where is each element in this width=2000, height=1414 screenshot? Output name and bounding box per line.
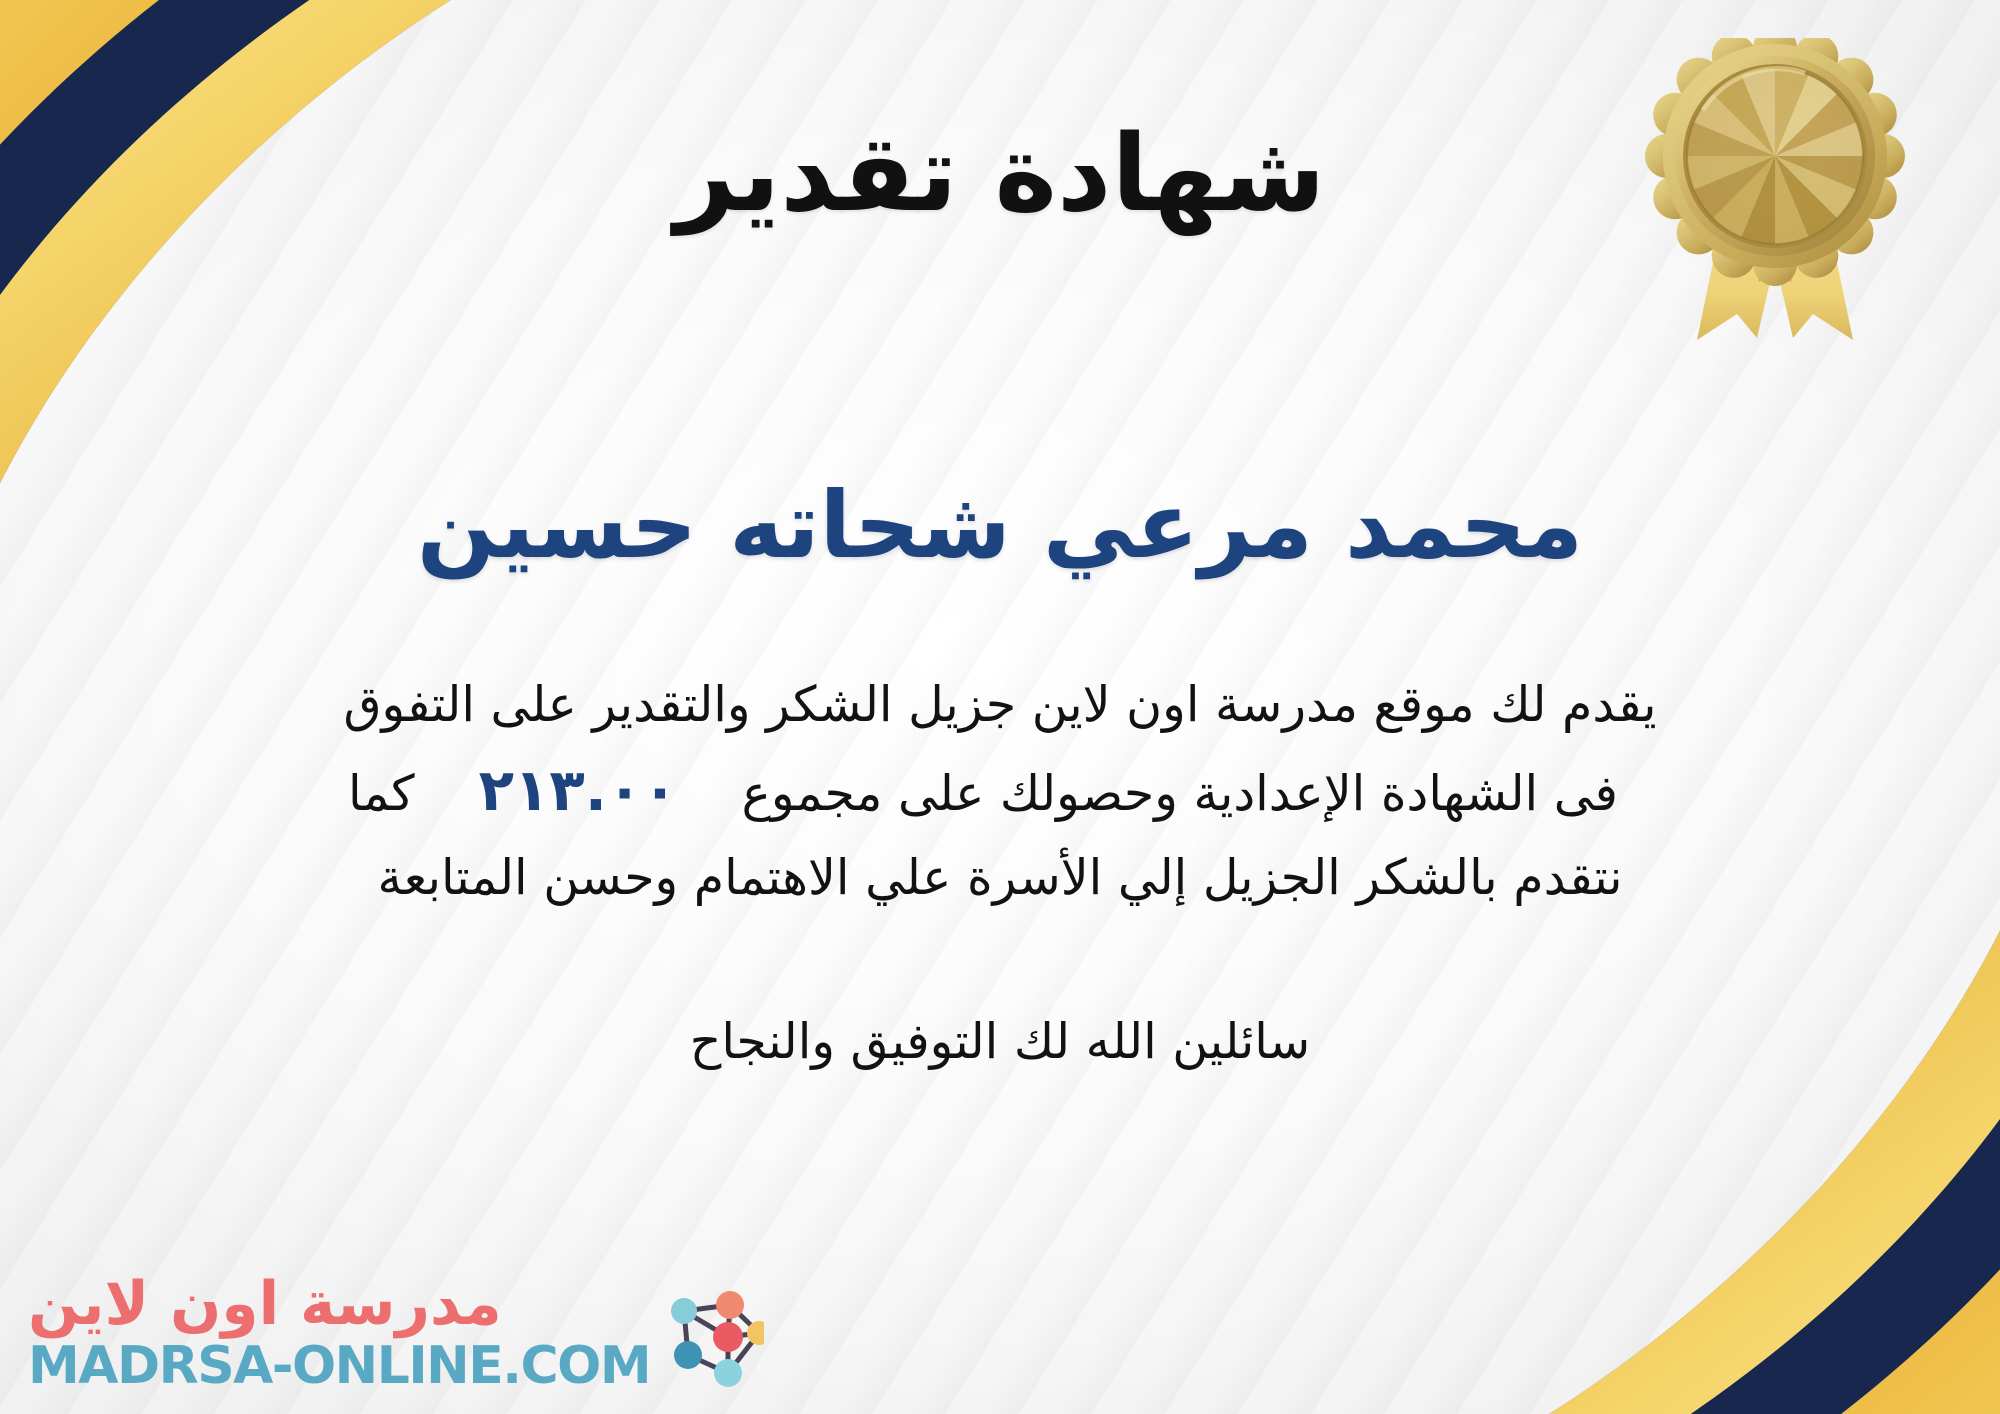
certificate-body: يقدم لك موقع مدرسة اون لاين جزيل الشكر و… [70,665,1930,918]
brand-website-url[interactable]: MADRSA-ONLINE.COM [28,1340,650,1392]
body-line-2-prefix: فى الشهادة الإعدادية وحصولك على مجموع [742,754,1652,833]
brand-logo[interactable]: مدرسة اون لاين MADRSA-ONLINE.COM [28,1274,764,1392]
network-nodes-icon [660,1275,764,1391]
certificate-content: شهادة تقدير محمد مرعي شحاته حسين يقدم لك… [0,0,2000,1414]
body-line-1: يقدم لك موقع مدرسة اون لاين جزيل الشكر و… [70,665,1930,744]
brand-text-group: مدرسة اون لاين MADRSA-ONLINE.COM [28,1274,650,1392]
body-line-3: نتقدم بالشكر الجزيل إلي الأسرة علي الاهت… [70,838,1930,917]
closing-wish: سائلين الله لك التوفيق والنجاح [690,1013,1310,1070]
recipient-name: محمد مرعي شحاته حسين [417,475,1583,576]
total-score-value: ٢١٣.٠٠ [441,744,716,838]
page-title: شهادة تقدير [675,118,1326,229]
body-line-2: فى الشهادة الإعدادية وحصولك على مجموع ٢١… [70,744,1930,838]
body-line-2-suffix: كما [348,754,415,833]
certificate-canvas: شهادة تقدير محمد مرعي شحاته حسين يقدم لك… [0,0,2000,1414]
brand-arabic-name: مدرسة اون لاين [28,1274,502,1334]
